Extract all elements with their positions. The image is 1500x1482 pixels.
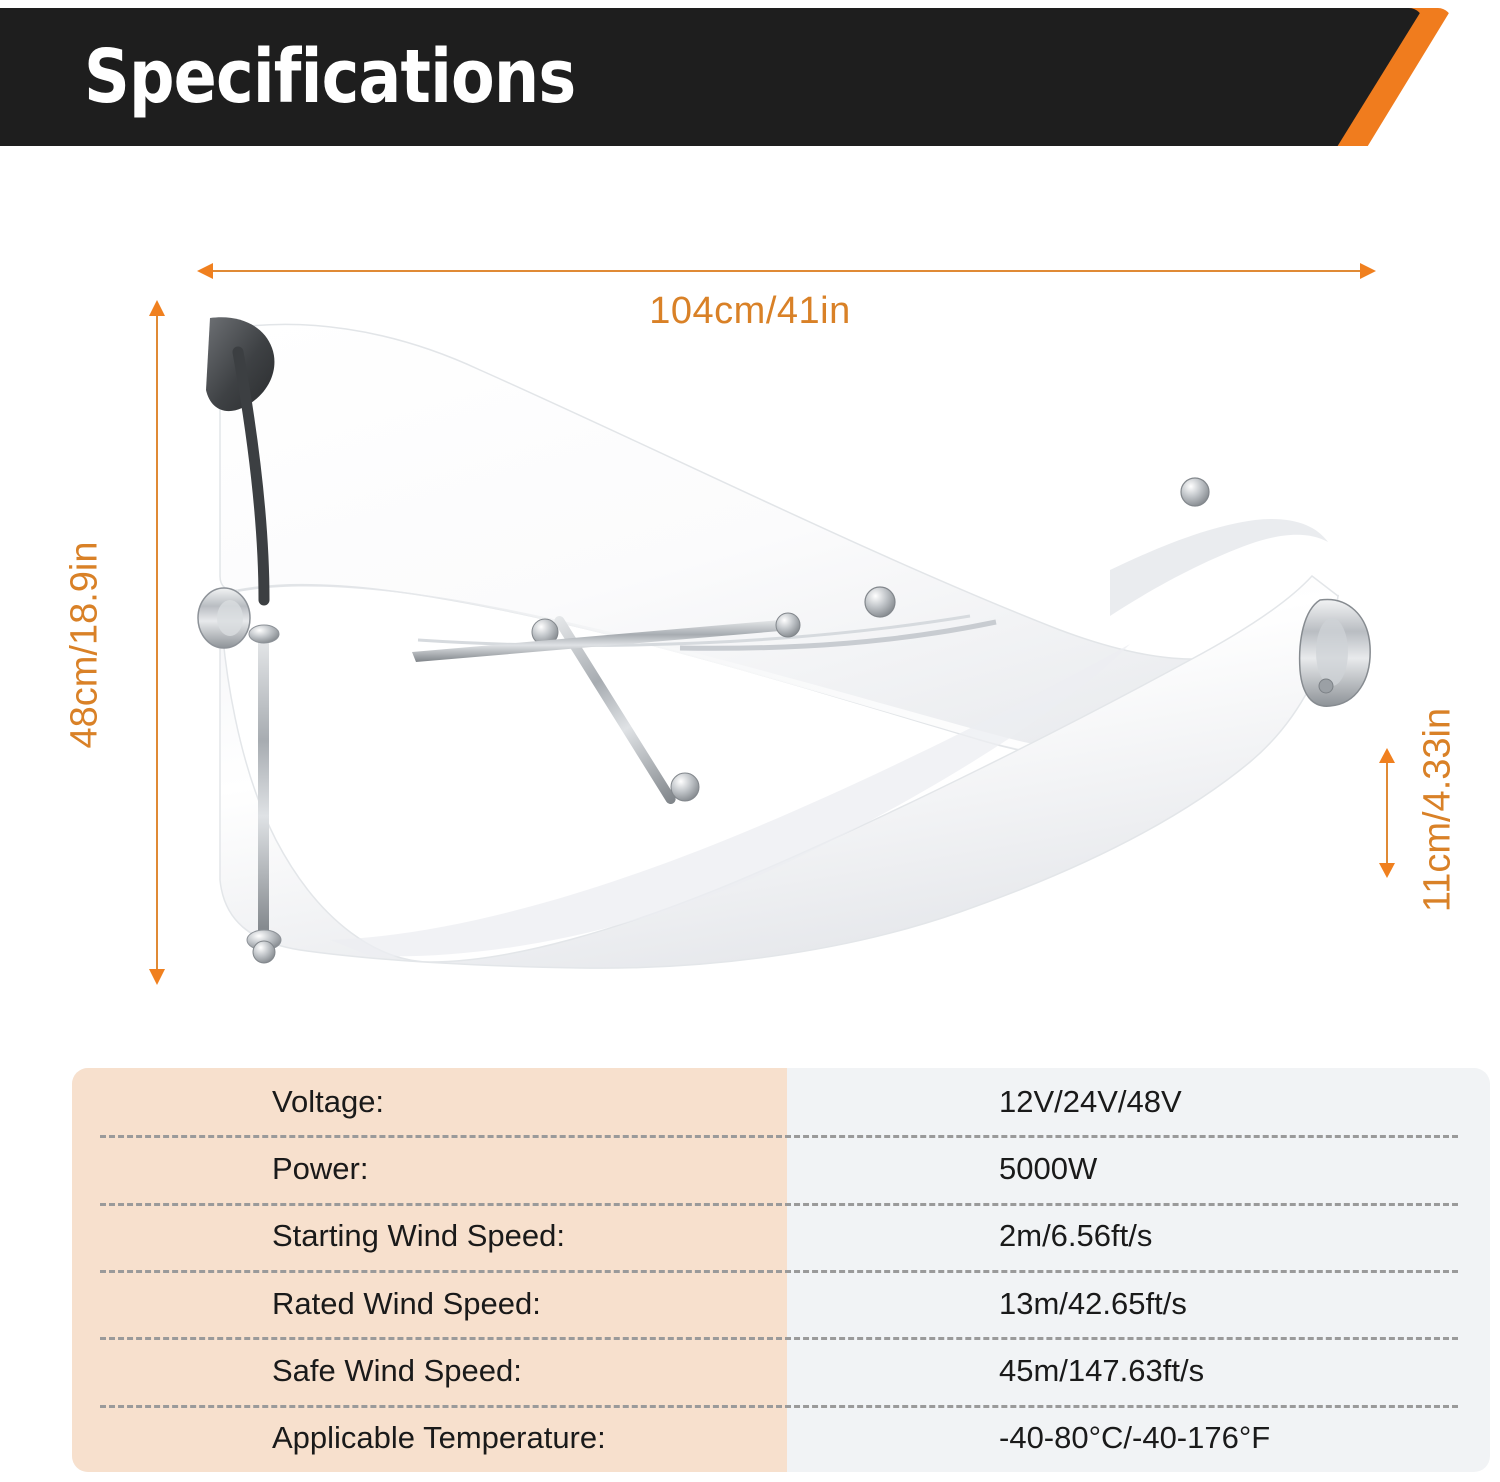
spec-value: 2m/6.56ft/s [787,1218,1490,1254]
spec-value: -40-80°C/-40-176°F [787,1420,1490,1456]
wind-turbine-blade-illustration [180,300,1390,990]
spec-label: Rated Wind Speed: [72,1286,787,1322]
spec-value: 13m/42.65ft/s [787,1286,1490,1322]
specifications-table: Voltage:12V/24V/48VPower:5000WStarting W… [72,1068,1490,1472]
spec-row: Safe Wind Speed:45m/147.63ft/s [72,1337,1490,1404]
width-dimension-line [205,270,1372,272]
bolt-right-mid [865,587,895,617]
page-title: Specifications [84,40,575,114]
spec-value: 45m/147.63ft/s [787,1353,1490,1389]
spec-label: Voltage: [72,1084,787,1120]
spec-row: Power:5000W [72,1135,1490,1202]
spec-row: Starting Wind Speed:2m/6.56ft/s [72,1203,1490,1270]
spec-value: 5000W [787,1151,1490,1187]
width-arrow-left-icon [197,263,213,279]
bolt-right-top [1181,478,1209,506]
mounting-hub-hole [1319,679,1333,693]
spec-row: Rated Wind Speed:13m/42.65ft/s [72,1270,1490,1337]
mounting-hub-highlight [1316,618,1348,686]
specifications-header: Specifications [0,8,1475,146]
spec-label: Power: [72,1151,787,1187]
product-diagram: 104cm/41in 48cm/18.9in 11cm/4.33in [0,150,1500,1050]
spec-value: 12V/24V/48V [787,1084,1490,1120]
height-dimension-line [156,313,158,976]
spec-row: Applicable Temperature:-40-80°C/-40-176°… [72,1405,1490,1472]
height-arrow-top-icon [149,300,165,316]
spec-label: Starting Wind Speed: [72,1218,787,1254]
pivot-hub-left-highlight [217,600,243,636]
spec-row: Voltage:12V/24V/48V [72,1068,1490,1135]
spec-label: Applicable Temperature: [72,1420,787,1456]
hub-dimension-label: 11cm/4.33in [1417,708,1460,912]
bolt-brace-bottom [671,773,699,801]
bolt-bottom-left [253,941,275,963]
bolt-seam-rod [776,613,800,637]
rod-end-cap-top [249,625,279,643]
support-rod-vertical [258,636,269,936]
spec-label: Safe Wind Speed: [72,1353,787,1389]
height-arrow-bottom-icon [149,969,165,985]
width-arrow-right-icon [1360,263,1376,279]
height-dimension-label: 48cm/18.9in [64,541,107,748]
